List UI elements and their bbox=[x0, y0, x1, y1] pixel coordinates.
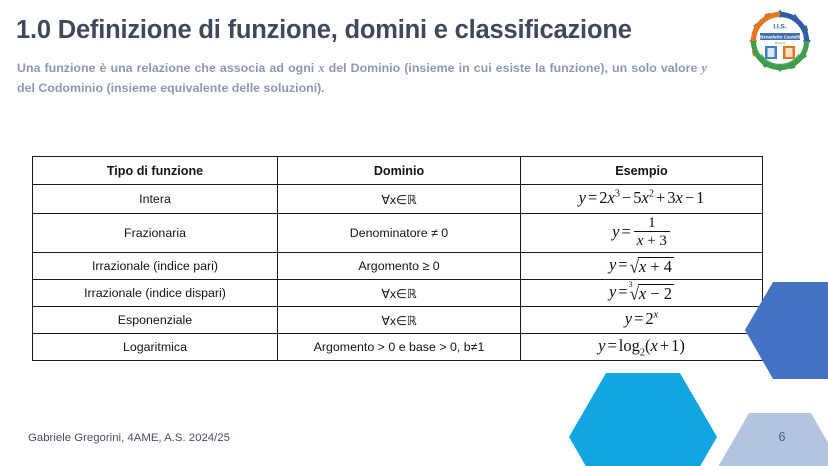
formula-y: y bbox=[625, 309, 632, 328]
formula-equals: = bbox=[616, 255, 629, 274]
formula-logaritmica: y=log2(x+1) bbox=[598, 338, 685, 355]
radicand-rest: + 4 bbox=[650, 257, 672, 276]
formula-equals: = bbox=[619, 222, 632, 241]
subtitle-text-1: Una funzione è una relazione che associa… bbox=[17, 61, 318, 75]
denominator-variable: x bbox=[637, 233, 644, 249]
cell-esempio: y=2x3−5x2+3x−1 bbox=[521, 185, 763, 214]
formula-equals: = bbox=[586, 188, 599, 207]
formula-irrazionale-dispari: y=3√x − 2 bbox=[609, 284, 674, 303]
formula-y: y bbox=[579, 188, 586, 207]
table-row: Logaritmica Argomento > 0 e base > 0, b≠… bbox=[33, 334, 763, 361]
svg-text:Brescia: Brescia bbox=[775, 41, 785, 45]
formula-equals: = bbox=[605, 336, 618, 355]
formula-x2: x bbox=[642, 188, 649, 207]
table-row: Frazionaria Denominatore ≠ 0 y=1x + 3 bbox=[33, 214, 763, 253]
formula-x: x bbox=[608, 188, 615, 207]
formula-intera: y=2x3−5x2+3x−1 bbox=[579, 190, 705, 207]
cell-esempio: y=log2(x+1) bbox=[521, 334, 763, 361]
page-title: 1.0 Definizione di funzione, domini e cl… bbox=[16, 16, 736, 45]
fraction-numerator: 1 bbox=[634, 215, 670, 232]
cell-dominio: Denominatore ≠ 0 bbox=[278, 214, 521, 253]
cell-tipo: Irrazionale (indice pari) bbox=[33, 253, 278, 280]
formula-coef-3: 3 bbox=[667, 188, 675, 207]
radicand-rest: − 2 bbox=[650, 284, 672, 303]
cell-dominio: ∀x∈ℝ bbox=[278, 307, 521, 334]
page-number: 6 bbox=[766, 430, 798, 444]
formula-irrazionale-pari: y=√x + 4 bbox=[609, 257, 674, 276]
cell-tipo: Frazionaria bbox=[33, 214, 278, 253]
cell-esempio: y=2x bbox=[521, 307, 763, 334]
column-header-tipo: Tipo di funzione bbox=[33, 157, 278, 185]
cube-root: 3√x − 2 bbox=[630, 284, 674, 303]
formula-coef-5: 5 bbox=[633, 188, 641, 207]
formula-plus: + bbox=[654, 188, 667, 207]
denominator-rest: + 3 bbox=[647, 233, 667, 249]
formula-exponent-x: x bbox=[654, 310, 659, 321]
square-root: √x + 4 bbox=[630, 257, 674, 276]
table-row: Irrazionale (indice pari) Argomento ≥ 0 … bbox=[33, 253, 763, 280]
formula-esponenziale: y=2x bbox=[625, 311, 658, 328]
svg-text:I.I.S.: I.I.S. bbox=[773, 24, 787, 31]
formula-paren-close: ) bbox=[679, 336, 685, 355]
function-classification-table: Tipo di funzione Dominio Esempio Intera … bbox=[32, 156, 763, 361]
cell-tipo: Irrazionale (indice dispari) bbox=[33, 280, 278, 307]
radicand-variable: x bbox=[639, 257, 646, 276]
fraction-denominator: x + 3 bbox=[634, 232, 670, 249]
formula-plus: + bbox=[658, 336, 671, 355]
formula-equals: = bbox=[632, 309, 645, 328]
cell-dominio: ∀x∈ℝ bbox=[278, 280, 521, 307]
cell-dominio: ∀x∈ℝ bbox=[278, 185, 521, 214]
table-row: Intera ∀x∈ℝ y=2x3−5x2+3x−1 bbox=[33, 185, 763, 214]
cell-dominio: Argomento ≥ 0 bbox=[278, 253, 521, 280]
column-header-esempio: Esempio bbox=[521, 157, 763, 185]
subtitle-variable-y: y bbox=[701, 61, 707, 75]
hexagon-shape-icon bbox=[569, 373, 717, 466]
cell-esempio: y=3√x − 2 bbox=[521, 280, 763, 307]
cell-dominio: Argomento > 0 e base > 0, b≠1 bbox=[278, 334, 521, 361]
table-header-row: Tipo di funzione Dominio Esempio bbox=[33, 157, 763, 185]
subtitle-text-2: del Dominio (insieme in cui esiste la fu… bbox=[325, 61, 702, 75]
radicand-variable: x bbox=[639, 284, 646, 303]
footer-author-text: Gabriele Gregorini, 4AME, A.S. 2024/25 bbox=[28, 432, 230, 444]
slide-canvas: 1.0 Definizione di funzione, domini e cl… bbox=[0, 0, 828, 466]
formula-log: log bbox=[619, 336, 640, 355]
cell-esempio: y=√x + 4 bbox=[521, 253, 763, 280]
cell-tipo: Esponenziale bbox=[33, 307, 278, 334]
column-header-dominio: Dominio bbox=[278, 157, 521, 185]
formula-minus-2: − bbox=[683, 188, 696, 207]
formula-frazionaria: y=1x + 3 bbox=[612, 216, 671, 250]
school-crest-gear-logo: I.I.S. Benedetto Castelli Brescia bbox=[748, 9, 812, 73]
decorative-hexagon-dark-blue bbox=[745, 282, 828, 412]
formula-x3: x bbox=[676, 188, 683, 207]
formula-equals: = bbox=[616, 282, 629, 301]
radicand: x − 2 bbox=[638, 284, 674, 303]
svg-text:Benedetto Castelli: Benedetto Castelli bbox=[760, 34, 800, 39]
school-crest-gear-icon: I.I.S. Benedetto Castelli Brescia bbox=[748, 9, 812, 73]
subtitle-text-3: del Codominio (insieme equivalente delle… bbox=[17, 81, 325, 95]
slide-subtitle: Una funzione è una relazione che associa… bbox=[17, 58, 707, 98]
cell-tipo: Logaritmica bbox=[33, 334, 278, 361]
table-row: Esponenziale ∀x∈ℝ y=2x bbox=[33, 307, 763, 334]
radicand: x + 4 bbox=[638, 257, 674, 276]
formula-base-2: 2 bbox=[645, 309, 653, 328]
cell-tipo: Intera bbox=[33, 185, 278, 214]
formula-const-1: 1 bbox=[696, 188, 704, 207]
table-row: Irrazionale (indice dispari) ∀x∈ℝ y=3√x … bbox=[33, 280, 763, 307]
formula-x: x bbox=[650, 336, 657, 355]
hexagon-shape-icon bbox=[745, 282, 828, 412]
fraction: 1x + 3 bbox=[634, 215, 670, 249]
decorative-hexagon-cyan bbox=[569, 373, 717, 466]
cell-esempio: y=1x + 3 bbox=[521, 214, 763, 253]
formula-minus-1: − bbox=[620, 188, 633, 207]
formula-coef-2: 2 bbox=[599, 188, 607, 207]
classification-table-container: Tipo di funzione Dominio Esempio Intera … bbox=[32, 156, 762, 361]
